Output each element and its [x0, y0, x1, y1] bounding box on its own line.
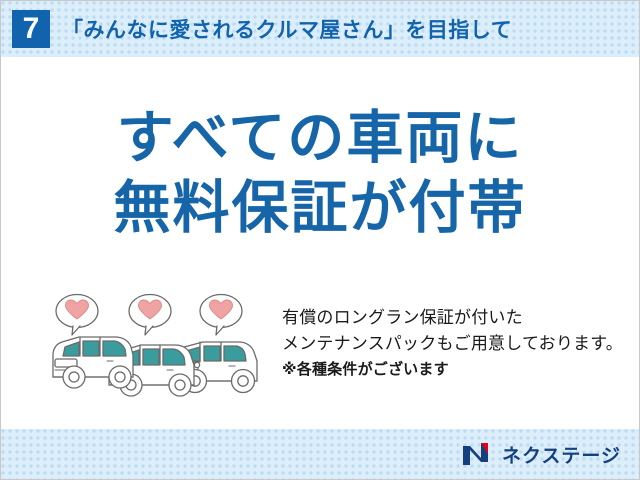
footer-content: ネクステージ	[1, 429, 639, 479]
body-line-1: 有償のロングラン保証が付いた	[282, 305, 623, 331]
step-number-badge: 7	[12, 10, 50, 48]
lower-section: 有償のロングラン保証が付いた メンテナンスパックもご用意しております。 ※各種条…	[1, 289, 639, 419]
body-line-2: メンテナンスパックもご用意しております。	[282, 331, 623, 357]
header-title: 「みんなに愛されるクルマ屋さん」を目指して	[62, 14, 512, 44]
header-content: 7 「みんなに愛されるクルマ屋さん」を目指して	[1, 1, 639, 57]
body-copy: 有償のロングラン保証が付いた メンテナンスパックもご用意しております。 ※各種条…	[282, 305, 623, 382]
cars-with-hearts-illustration	[43, 289, 268, 409]
body-note: ※各種条件がございます	[282, 357, 623, 382]
brand-logo: ネクステージ	[461, 441, 621, 468]
nextage-n-mark-icon	[461, 441, 495, 467]
main-content-area: すべての車両に 無料保証が付帯	[1, 57, 639, 429]
vehicle-minivan	[53, 337, 133, 388]
page-title: すべての車両に 無料保証が付帯	[1, 103, 639, 243]
footer-band: ネクステージ	[1, 429, 639, 479]
headline-line-2: 無料保証が付帯	[1, 173, 639, 243]
header-band: 7 「みんなに愛されるクルマ屋さん」を目指して	[1, 1, 639, 57]
headline-line-1: すべての車両に	[1, 103, 639, 173]
heart-bubble-2	[129, 295, 171, 336]
brand-name: ネクステージ	[502, 441, 621, 468]
heart-bubble-1	[56, 295, 98, 336]
heart-bubble-3	[200, 295, 242, 336]
advertisement-banner: 7 「みんなに愛されるクルマ屋さん」を目指して すべての車両に 無料保証が付帯	[0, 0, 640, 480]
